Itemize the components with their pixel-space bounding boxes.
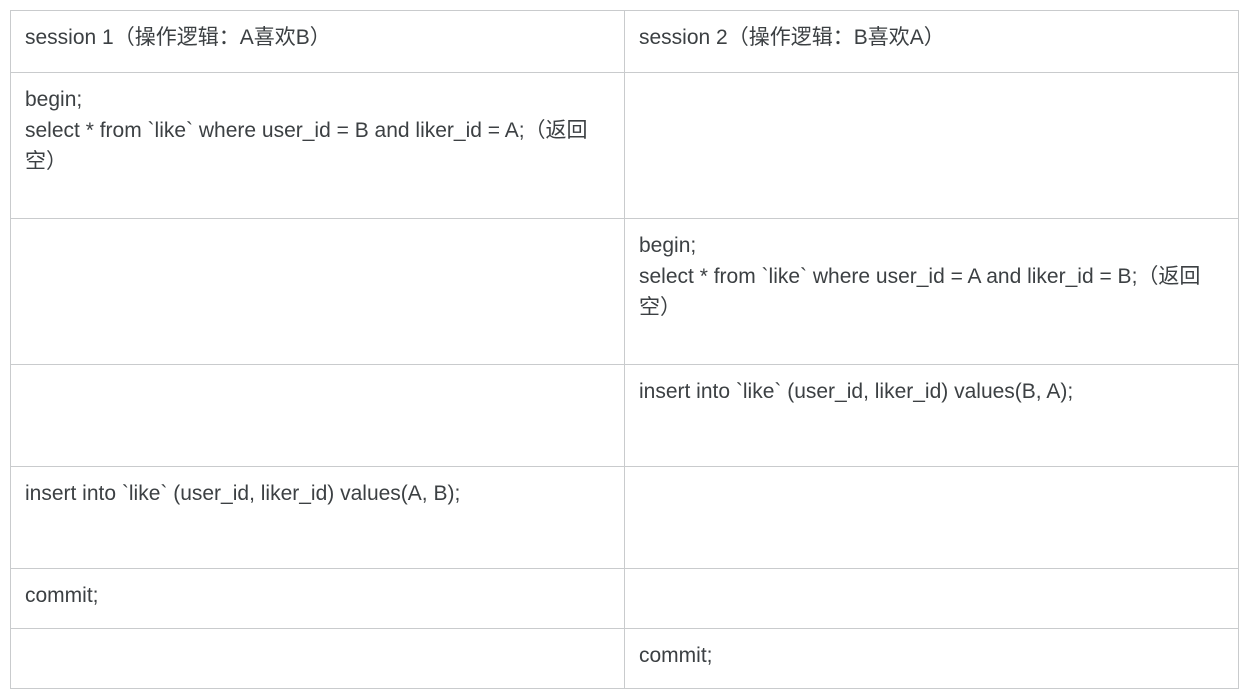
- cell-session-2-step-3: insert into `like` (user_id, liker_id) v…: [625, 365, 1239, 467]
- cell-session-1-step-6: [11, 629, 625, 689]
- column-header-session-2: session 2（操作逻辑：B喜欢A）: [625, 11, 1239, 73]
- cell-session-2-step-1: [625, 73, 1239, 219]
- table-row: insert into `like` (user_id, liker_id) v…: [11, 365, 1239, 467]
- cell-session-2-step-6: commit;: [625, 629, 1239, 689]
- table-row: commit;: [11, 629, 1239, 689]
- cell-session-2-step-2: begin; select * from `like` where user_i…: [625, 219, 1239, 365]
- column-header-session-1: session 1（操作逻辑：A喜欢B）: [11, 11, 625, 73]
- table-row: begin; select * from `like` where user_i…: [11, 219, 1239, 365]
- cell-session-1-step-2: [11, 219, 625, 365]
- transaction-session-table: session 1（操作逻辑：A喜欢B） session 2（操作逻辑：B喜欢A…: [10, 10, 1239, 689]
- table-header: session 1（操作逻辑：A喜欢B） session 2（操作逻辑：B喜欢A…: [11, 11, 1239, 73]
- cell-session-1-step-5: commit;: [11, 569, 625, 629]
- page-container: session 1（操作逻辑：A喜欢B） session 2（操作逻辑：B喜欢A…: [0, 0, 1248, 694]
- table-row: begin; select * from `like` where user_i…: [11, 73, 1239, 219]
- table-header-row: session 1（操作逻辑：A喜欢B） session 2（操作逻辑：B喜欢A…: [11, 11, 1239, 73]
- table-body: begin; select * from `like` where user_i…: [11, 73, 1239, 689]
- table-row: insert into `like` (user_id, liker_id) v…: [11, 467, 1239, 569]
- table-row: commit;: [11, 569, 1239, 629]
- cell-session-2-step-4: [625, 467, 1239, 569]
- cell-session-1-step-1: begin; select * from `like` where user_i…: [11, 73, 625, 219]
- cell-session-1-step-4: insert into `like` (user_id, liker_id) v…: [11, 467, 625, 569]
- cell-session-1-step-3: [11, 365, 625, 467]
- cell-session-2-step-5: [625, 569, 1239, 629]
